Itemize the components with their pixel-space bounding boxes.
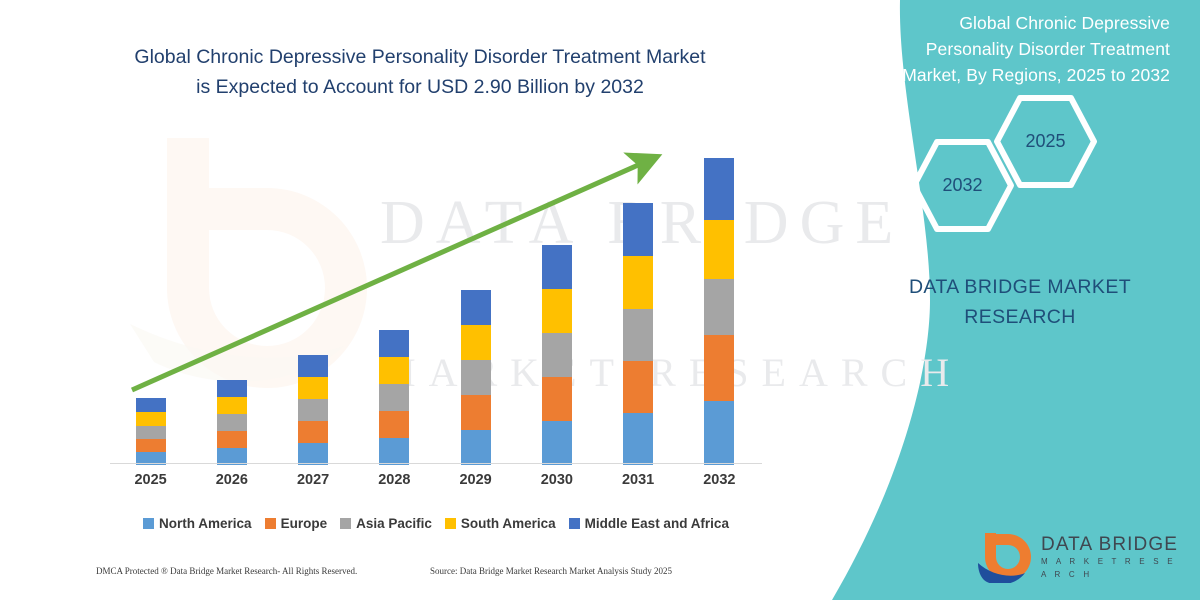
legend-swatch-icon [265,518,276,529]
legend-label: South America [461,516,556,531]
legend-label: Middle East and Africa [585,516,729,531]
x-tick-2025: 2025 [116,472,186,488]
legend-swatch-icon [569,518,580,529]
growth-arrow-icon [110,140,760,465]
legend-swatch-icon [143,518,154,529]
hexagon-2025-label: 2025 [993,94,1098,189]
x-tick-2027: 2027 [278,472,348,488]
logo-line1: DATA BRIDGE [1041,534,1182,555]
x-tick-2032: 2032 [684,472,754,488]
chart-legend: North AmericaEuropeAsia PacificSouth Ame… [110,512,762,534]
legend-item[interactable]: South America [445,516,556,531]
data-bridge-logo: DATA BRIDGE M A R K E T R E S E A R C H [977,528,1182,586]
infographic-canvas: DATA BRIDGE MARKET RESEARCH Global Chron… [0,0,1200,600]
legend-swatch-icon [445,518,456,529]
logo-wordmark: DATA BRIDGE M A R K E T R E S E A R C H [1041,534,1182,581]
hexagon-group: 2032 2025 [900,108,1170,218]
right-panel: Global Chronic Depressive Personality Di… [870,0,1200,600]
x-tick-2030: 2030 [522,472,592,488]
x-tick-2031: 2031 [603,472,673,488]
legend-item[interactable]: Europe [265,516,328,531]
hexagon-2025: 2025 [993,94,1098,189]
data-bridge-mark-icon [977,531,1035,583]
right-panel-title: Global Chronic Depressive Personality Di… [870,10,1170,88]
footer: DMCA Protected ® Data Bridge Market Rese… [0,566,810,590]
legend-item[interactable]: Asia Pacific [340,516,432,531]
legend-label: Europe [281,516,328,531]
legend-label: Asia Pacific [356,516,432,531]
footer-copyright: DMCA Protected ® Data Bridge Market Rese… [96,566,357,576]
legend-label: North America [159,516,252,531]
stacked-bar-chart: 20252026202720282029203020312032 North A… [0,0,810,600]
legend-item[interactable]: North America [143,516,252,531]
legend-item[interactable]: Middle East and Africa [569,516,729,531]
footer-source: Source: Data Bridge Market Research Mark… [430,566,672,576]
x-tick-2028: 2028 [359,472,429,488]
right-panel-brand: DATA BRIDGE MARKET RESEARCH [870,272,1170,332]
legend-swatch-icon [340,518,351,529]
x-tick-2029: 2029 [441,472,511,488]
chart-x-tick-labels: 20252026202720282029203020312032 [110,472,762,496]
logo-line2: M A R K E T R E S E A R C H [1041,555,1182,581]
x-tick-2026: 2026 [197,472,267,488]
